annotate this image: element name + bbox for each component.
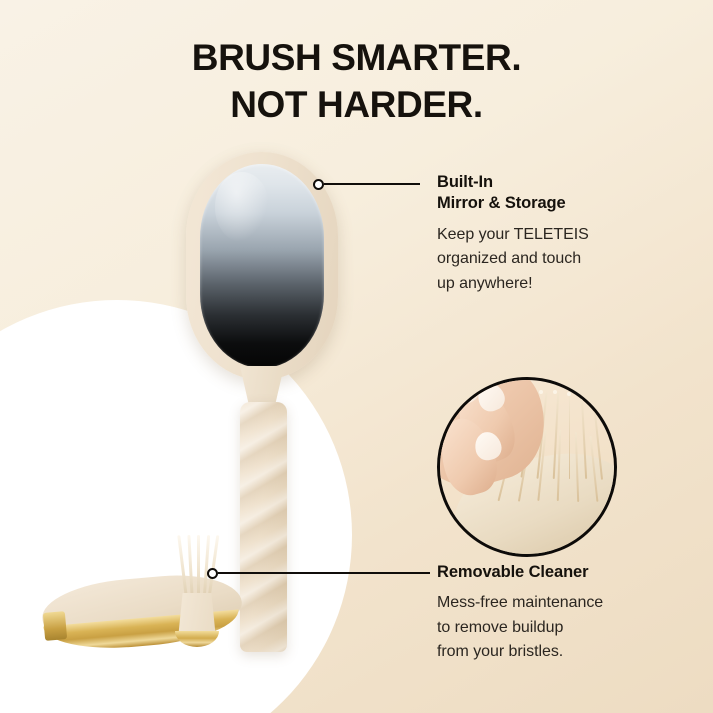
callout-dot-mirror (313, 179, 324, 190)
callout-title-mirror-line-1: Built-In (437, 173, 493, 191)
callout-body-cleaner: Mess-free maintenance to remove buildup … (437, 591, 672, 664)
inset-bristle-tip (567, 392, 571, 396)
inset-bristle-tip (581, 396, 585, 400)
callout-line-mirror (324, 183, 420, 185)
page-title: BRUSH SMARTER. NOT HARDER. (0, 34, 713, 129)
callout-line-cleaner (218, 572, 430, 574)
callout-body-mirror-line-2: organized and touch (437, 250, 581, 267)
callout-body-cleaner-line-2: to remove buildup (437, 619, 563, 636)
callout-title-mirror-line-2: Mirror & Storage (437, 194, 566, 212)
callout-body-mirror-line-1: Keep your TELETEIS (437, 226, 589, 243)
built-in-mirror (200, 164, 324, 368)
cleaner-bristle (197, 535, 200, 597)
twisted-handle (240, 402, 287, 652)
callout-removable-cleaner: Removable Cleaner Mess-free maintenance … (437, 562, 672, 665)
product-feature-graphic: BRUSH SMARTER. NOT HARDER. (0, 0, 713, 713)
cleaner-demo-photo (437, 377, 617, 557)
storage-base-clasp (43, 611, 67, 641)
inset-bristle-tip (595, 401, 599, 405)
callout-built-in-mirror: Built-In Mirror & Storage Keep your TELE… (437, 172, 667, 296)
callout-title-mirror: Built-In Mirror & Storage (437, 172, 667, 215)
callout-body-mirror: Keep your TELETEIS organized and touch u… (437, 223, 667, 296)
inset-bristle-pin (569, 394, 571, 479)
callout-body-mirror-line-3: up anywhere! (437, 275, 532, 292)
inset-bristle-tip (539, 390, 543, 394)
callout-dot-cleaner (207, 568, 218, 579)
callout-body-cleaner-line-1: Mess-free maintenance (437, 594, 603, 611)
callout-title-cleaner-line-1: Removable Cleaner (437, 563, 588, 581)
headline-line-2: NOT HARDER. (0, 81, 713, 128)
callout-body-cleaner-line-3: from your bristles. (437, 643, 563, 660)
headline-line-1: BRUSH SMARTER. (192, 37, 521, 78)
callout-title-cleaner: Removable Cleaner (437, 562, 672, 583)
